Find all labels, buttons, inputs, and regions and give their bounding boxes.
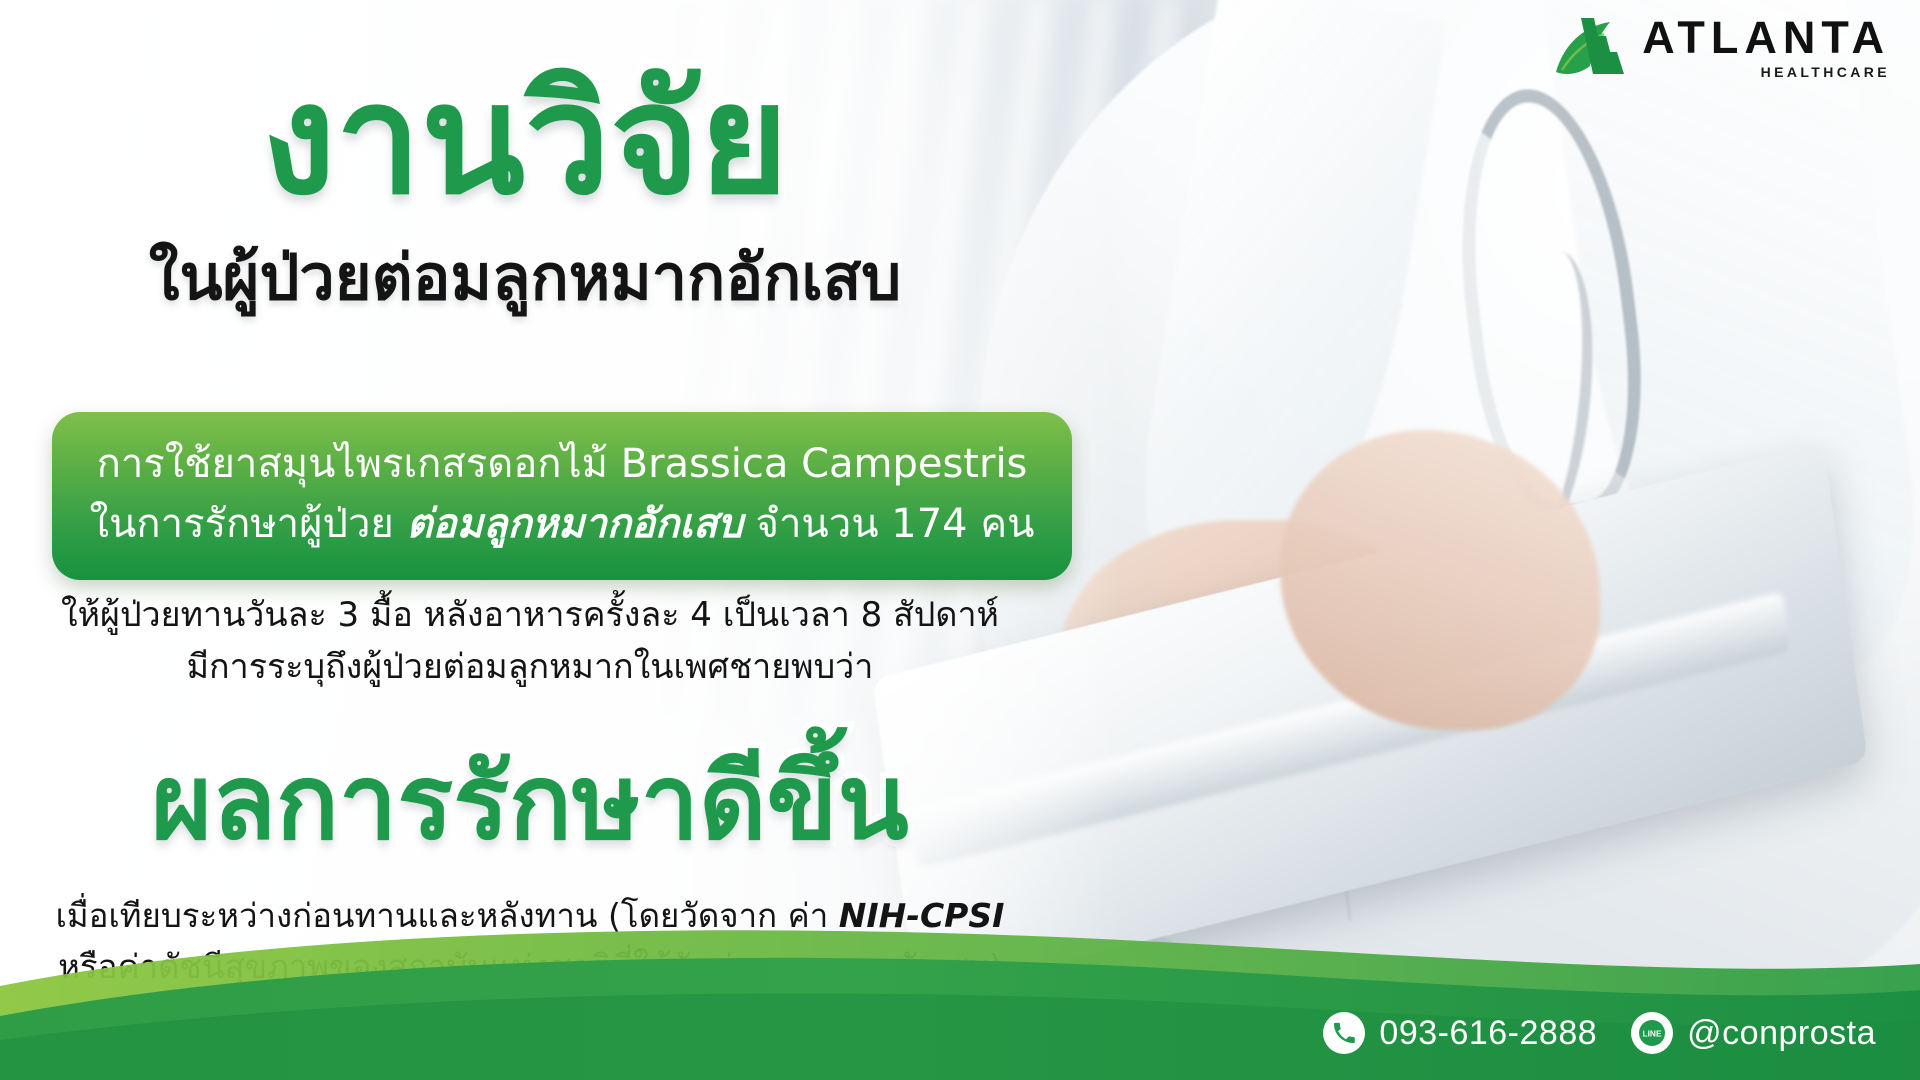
study-summary-badge: การใช้ยาสมุนไพรเกสรดอกไม้ Brassica Campe… bbox=[52, 412, 1072, 580]
dosage-paragraph: ให้ผู้ป่วยทานวันละ 3 มื้อ หลังอาหารครั้ง… bbox=[0, 590, 1060, 693]
line-id: @conprosta bbox=[1687, 1014, 1876, 1053]
badge-line-2-prefix: ในการรักษาผู้ป่วย bbox=[90, 501, 407, 547]
phone-number: 093-616-2888 bbox=[1379, 1014, 1597, 1053]
phone-icon bbox=[1323, 1012, 1365, 1054]
footer-wave bbox=[0, 920, 1920, 1080]
atlanta-leaf-mark-icon bbox=[1554, 14, 1628, 80]
logo-name: ATLANTA bbox=[1642, 15, 1890, 60]
svg-text:LINE: LINE bbox=[1643, 1028, 1662, 1038]
logo-wordmark: ATLANTA HEALTHCARE bbox=[1642, 15, 1890, 79]
contact-bar: 093-616-2888 LINE @conprosta bbox=[1323, 1012, 1876, 1054]
atlanta-healthcare-logo: ATLANTA HEALTHCARE bbox=[1554, 14, 1890, 80]
logo-subtitle: HEALTHCARE bbox=[1761, 65, 1890, 79]
result-headline: ผลการรักษาดีขึ้น bbox=[0, 742, 1060, 863]
research-banner: ATLANTA HEALTHCARE งานวิจัย ในผู้ป่วยต่อ… bbox=[0, 0, 1920, 1080]
phone-contact[interactable]: 093-616-2888 bbox=[1323, 1012, 1597, 1054]
badge-line-2-emphasis: ต่อมลูกหมากอักเสบ bbox=[407, 501, 743, 547]
badge-line-2-suffix: จำนวน 174 คน bbox=[743, 501, 1035, 547]
dosage-line-1: ให้ผู้ป่วยทานวันละ 3 มื้อ หลังอาหารครั้ง… bbox=[0, 590, 1060, 642]
badge-line-2: ในการรักษาผู้ป่วย ต่อมลูกหมากอักเสบ จำนว… bbox=[82, 494, 1042, 554]
line-icon: LINE bbox=[1631, 1012, 1673, 1054]
page-title: งานวิจัย bbox=[0, 58, 1050, 222]
dosage-line-2: มีการระบุถึงผู้ป่วยต่อมลูกหมากในเพศชายพบ… bbox=[0, 642, 1060, 694]
badge-line-1: การใช้ยาสมุนไพรเกสรดอกไม้ Brassica Campe… bbox=[82, 434, 1042, 494]
content-column: งานวิจัย ในผู้ป่วยต่อมลูกหมากอักเสบ การใ… bbox=[0, 0, 1120, 1010]
page-subtitle: ในผู้ป่วยต่อมลูกหมากอักเสบ bbox=[0, 240, 1050, 316]
line-contact[interactable]: LINE @conprosta bbox=[1631, 1012, 1876, 1054]
